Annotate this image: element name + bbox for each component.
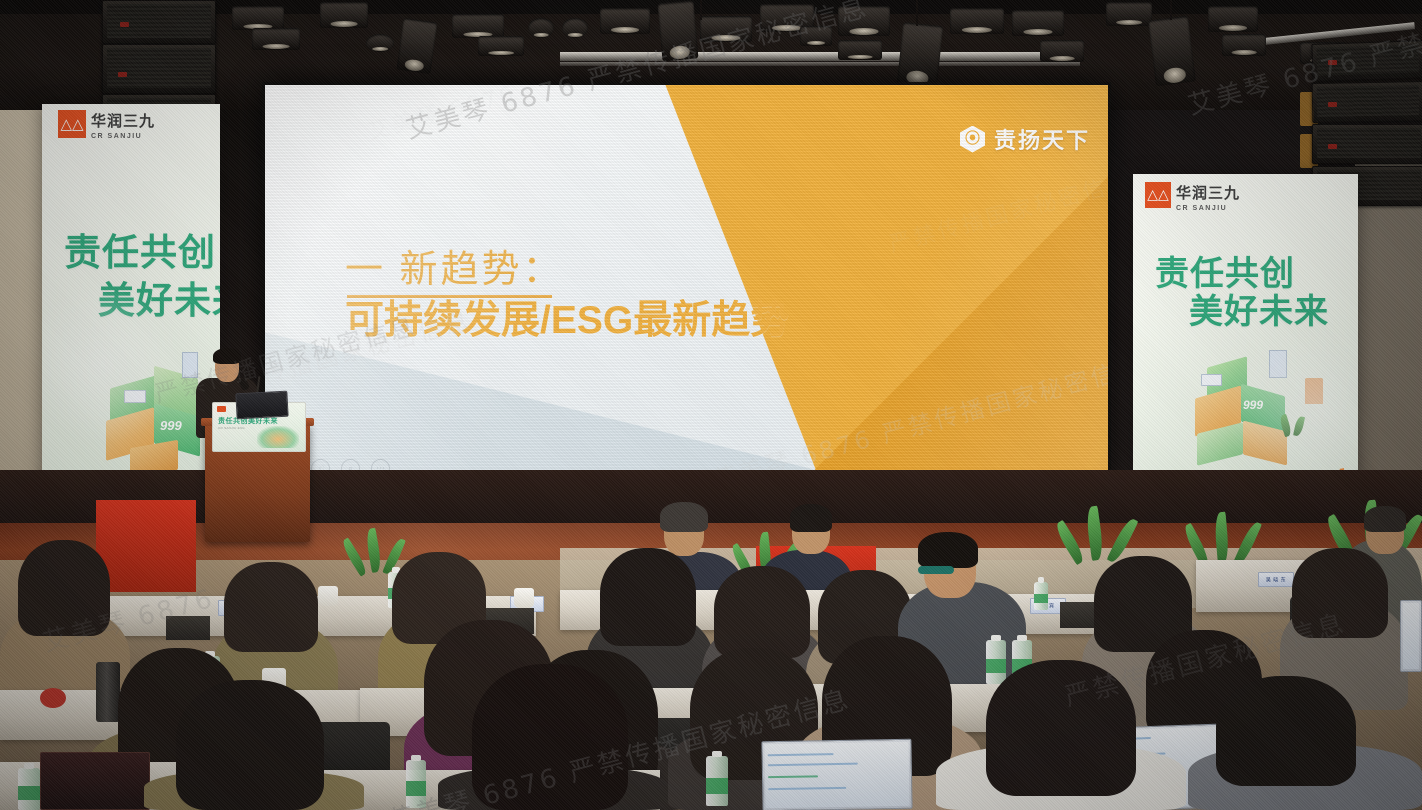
- attendee-hair: [600, 548, 696, 646]
- slide-title-line2: 可持续发展/ESG最新趋势: [345, 300, 789, 343]
- banner-left-logo: △△ 华润三九 CR SANJIU: [58, 110, 155, 140]
- water-bottle: [706, 756, 728, 806]
- banner-left-headline-1: 责任共创: [64, 222, 216, 276]
- stage-light: [838, 6, 890, 36]
- truss-beam-lower: [560, 62, 1080, 66]
- stage-light: [1012, 10, 1064, 36]
- attendee-hair: [790, 504, 832, 532]
- banner-left-logo-en: CR SANJIU: [91, 133, 155, 140]
- stage-light: [528, 18, 554, 38]
- podium: 责任共创美好未来 CR SANJIU ESG: [205, 424, 310, 542]
- stage-light: [950, 8, 1004, 34]
- stage-light: [1040, 40, 1084, 62]
- attendee-hair: [1292, 548, 1388, 638]
- tea-cup: [514, 588, 534, 608]
- stage-light: [366, 34, 394, 52]
- stage-light: [600, 8, 650, 34]
- attendee-hair: [660, 502, 708, 532]
- slide: ⦿ 责扬天下 一 新趋势： 可持续发展/ESG最新趋势 ✎ ☜ ⌕ ⋯ 严禁传播…: [265, 85, 1108, 484]
- stage-light: [232, 6, 284, 30]
- stage-light: [838, 40, 882, 60]
- stage-light: [700, 16, 752, 42]
- attendee-hair: [1216, 676, 1356, 786]
- attendee-hair: [176, 680, 324, 810]
- laptop-closed[interactable]: [166, 616, 210, 640]
- slide-title-block: 一 新趋势： 可持续发展/ESG最新趋势: [345, 248, 789, 343]
- presenter-laptop[interactable]: [235, 391, 288, 420]
- truss-beam: [560, 52, 1080, 61]
- slide-brand-logo: ⦿ 责扬天下: [960, 123, 1090, 155]
- attendee-hair: [224, 562, 318, 652]
- attendee-hair: [918, 532, 978, 568]
- cr-sanjiu-mark-icon: △△: [58, 110, 86, 138]
- water-bottle: [406, 760, 426, 808]
- banner-right-logo: △△ 华润三九 CR SANJIU: [1145, 182, 1240, 212]
- attendee-hair: [986, 660, 1136, 796]
- projection-screen: ⦿ 责扬天下 一 新趋势： 可持续发展/ESG最新趋势 ✎ ☜ ⌕ ⋯ 严禁传播…: [262, 82, 1111, 487]
- stage-light: [252, 28, 300, 50]
- red-lid-cup: [40, 688, 66, 708]
- stage-red-panel: [96, 500, 196, 592]
- slide-title-line1: 一 新趋势：: [345, 248, 789, 293]
- attendee-hair: [18, 540, 110, 636]
- stage-light: [1222, 34, 1266, 56]
- stage-light: [1208, 6, 1258, 32]
- slide-brand-name: 责扬天下: [994, 123, 1090, 155]
- watermark-text: 艾美琴 6876: [363, 85, 519, 146]
- water-bottle: [1034, 582, 1048, 610]
- attendee-laptop[interactable]: [40, 752, 150, 810]
- attendee-glasses: [918, 566, 954, 574]
- stage-light: [562, 18, 588, 38]
- stage-light: [800, 26, 832, 46]
- banner-right-logo-cn: 华润三九: [1176, 182, 1240, 203]
- cr-sanjiu-mark-icon: [217, 406, 226, 412]
- hexagon-bee-icon: ⦿: [960, 126, 985, 153]
- podium-panel-sub: CR SANJIU ESG: [218, 426, 245, 430]
- stage-light: [658, 1, 699, 62]
- banner-left: △△ 华润三九 CR SANJIU 责任共创 美好未来 999 CR SANJI…: [42, 104, 220, 524]
- stage-light: [1106, 2, 1152, 26]
- stage-light: [478, 36, 524, 56]
- namecard: 吴 晓 东: [1258, 572, 1294, 587]
- thermos-bottle: [96, 662, 120, 722]
- banner-left-logo-cn: 华润三九: [91, 110, 155, 131]
- stage-light: [452, 14, 504, 38]
- stage-light: [397, 18, 438, 74]
- stage-plant: [1068, 506, 1128, 568]
- attendee-hair: [714, 566, 810, 658]
- attendee-hair: [472, 664, 628, 810]
- attendee-laptop[interactable]: [761, 739, 912, 810]
- attendee-hair: [1364, 506, 1406, 532]
- banner-right-logo-en: CR SANJIU: [1176, 205, 1240, 212]
- stage-light: [1148, 16, 1196, 86]
- podium-panel-art: [257, 426, 299, 448]
- stage-light: [320, 2, 368, 28]
- tea-cup: [318, 586, 338, 606]
- cr-sanjiu-mark-icon: △△: [1145, 182, 1171, 208]
- stage-light: [897, 22, 943, 88]
- water-bottle: [986, 640, 1006, 684]
- water-bottle: [18, 768, 40, 810]
- conference-photo: ⦿ 责扬天下 一 新趋势： 可持续发展/ESG最新趋势 ✎ ☜ ⌕ ⋯ 严禁传播…: [0, 0, 1422, 810]
- attendee-laptop[interactable]: [1400, 600, 1422, 672]
- slide-title-rule: [347, 295, 552, 298]
